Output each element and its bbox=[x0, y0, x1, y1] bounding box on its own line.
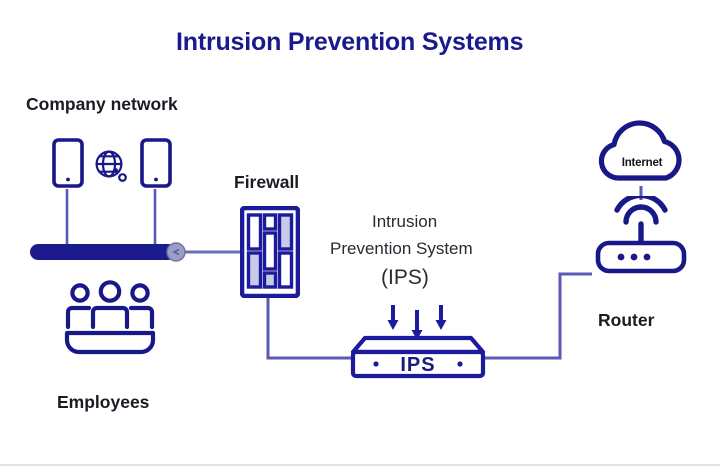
network-diagram: Intrusion Prevention Systems Company net… bbox=[0, 0, 720, 466]
router-icon[interactable] bbox=[592, 196, 692, 276]
ips-title-line1: Intrusion bbox=[372, 212, 437, 232]
tablet-icon[interactable] bbox=[140, 138, 172, 188]
firewall-label: Firewall bbox=[234, 172, 299, 193]
router-led-2 bbox=[631, 254, 638, 261]
company-network-label: Company network bbox=[26, 94, 178, 115]
router-led-1 bbox=[618, 254, 625, 261]
employees-group-icon[interactable] bbox=[63, 280, 159, 366]
employees-label: Employees bbox=[57, 392, 149, 413]
ips-device-label: IPS bbox=[400, 354, 435, 376]
internet-label: Internet bbox=[622, 157, 663, 169]
network-connector-node bbox=[167, 243, 185, 261]
ips-led-left bbox=[373, 361, 378, 366]
ips-title-line3: (IPS) bbox=[381, 266, 429, 291]
tablet-icon[interactable] bbox=[52, 138, 84, 188]
cloud-icon[interactable]: Internet bbox=[592, 110, 692, 188]
ips-to-router-line bbox=[483, 274, 592, 358]
firewall-brick-icon[interactable] bbox=[240, 206, 300, 298]
page-title: Intrusion Prevention Systems bbox=[176, 28, 523, 58]
ips-appliance-icon[interactable]: IPS bbox=[349, 334, 487, 382]
network-backbone-bar[interactable] bbox=[28, 240, 188, 265]
ips-title-line2: Prevention System bbox=[330, 239, 473, 259]
firewall-to-ips-line bbox=[268, 296, 352, 358]
router-label: Router bbox=[598, 310, 654, 331]
router-led-3 bbox=[644, 254, 651, 261]
ips-led-right bbox=[457, 361, 462, 366]
globe-icon[interactable] bbox=[93, 148, 131, 186]
